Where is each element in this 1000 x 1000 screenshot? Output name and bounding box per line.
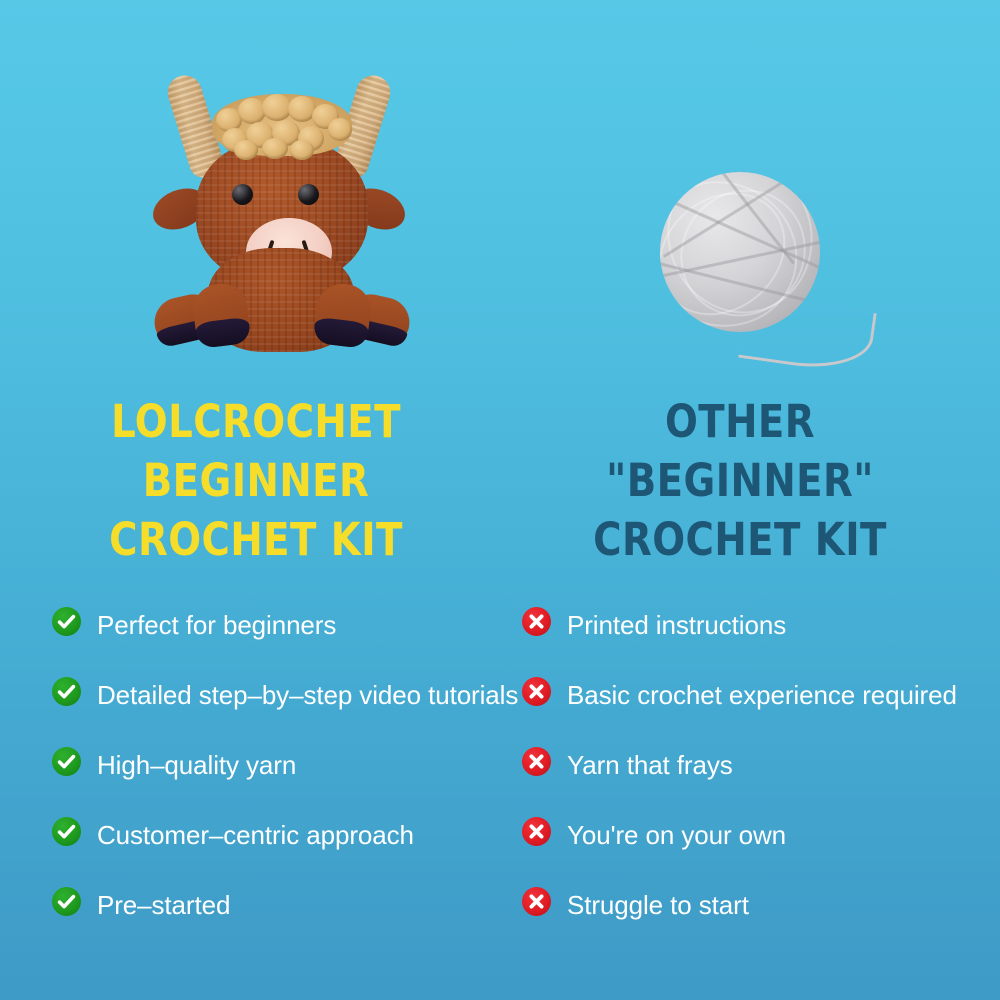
cross-icon (522, 607, 551, 636)
check-icon (52, 677, 81, 706)
cross-icon (522, 817, 551, 846)
check-icon (52, 607, 81, 636)
cross-icon (522, 747, 551, 776)
check-icon (52, 817, 81, 846)
cross-icon (522, 887, 551, 916)
list-item: Basic crochet experience required (522, 674, 992, 717)
cow-fringe (212, 94, 352, 156)
cow-eye-left (232, 184, 253, 205)
list-item-label: Pre–started (97, 884, 230, 927)
check-icon (52, 887, 81, 916)
right-heading-line-1: OTHER (551, 392, 929, 451)
list-item: Pre–started (52, 884, 522, 927)
list-item-label: Printed instructions (567, 604, 786, 647)
pros-list: Perfect for beginners Detailed step–by–s… (52, 604, 522, 954)
list-item: High–quality yarn (52, 744, 522, 787)
cross-icon (522, 677, 551, 706)
list-item-label: Perfect for beginners (97, 604, 336, 647)
gray-yarn-ball-image (660, 172, 820, 332)
comparison-infographic: LOLCROCHET BEGINNER CROCHET KIT OTHER "B… (0, 0, 1000, 1000)
list-item-label: High–quality yarn (97, 744, 296, 787)
list-item: You're on your own (522, 814, 992, 857)
feature-comparison-lists: Perfect for beginners Detailed step–by–s… (0, 604, 1000, 964)
cons-list: Printed instructions Basic crochet exper… (522, 604, 992, 954)
list-item: Yarn that frays (522, 744, 992, 787)
left-column-heading: LOLCROCHET BEGINNER CROCHET KIT (67, 392, 445, 569)
list-item: Perfect for beginners (52, 604, 522, 647)
left-heading-line-3: CROCHET KIT (67, 510, 445, 569)
list-item-label: You're on your own (567, 814, 786, 857)
list-item: Struggle to start (522, 884, 992, 927)
list-item-label: Basic crochet experience required (567, 674, 957, 717)
check-icon (52, 747, 81, 776)
list-item-label: Detailed step–by–step video tutorials (97, 674, 518, 717)
list-item-label: Struggle to start (567, 884, 749, 927)
right-heading-line-3: CROCHET KIT (551, 510, 929, 569)
list-item: Printed instructions (522, 604, 992, 647)
hero-image-row (0, 0, 1000, 390)
list-item: Detailed step–by–step video tutorials (52, 674, 522, 717)
left-heading-line-1: LOLCROCHET (67, 392, 445, 451)
right-heading-line-2: "BEGINNER" (551, 451, 929, 510)
heading-row: LOLCROCHET BEGINNER CROCHET KIT OTHER "B… (0, 392, 1000, 588)
right-column-heading: OTHER "BEGINNER" CROCHET KIT (551, 392, 929, 569)
yarn-ball (660, 172, 820, 332)
left-heading-line-2: BEGINNER (67, 451, 445, 510)
crochet-highland-cow-image (150, 72, 412, 362)
list-item: Customer–centric approach (52, 814, 522, 857)
list-item-label: Customer–centric approach (97, 814, 414, 857)
cow-eye-right (298, 184, 319, 205)
list-item-label: Yarn that frays (567, 744, 733, 787)
